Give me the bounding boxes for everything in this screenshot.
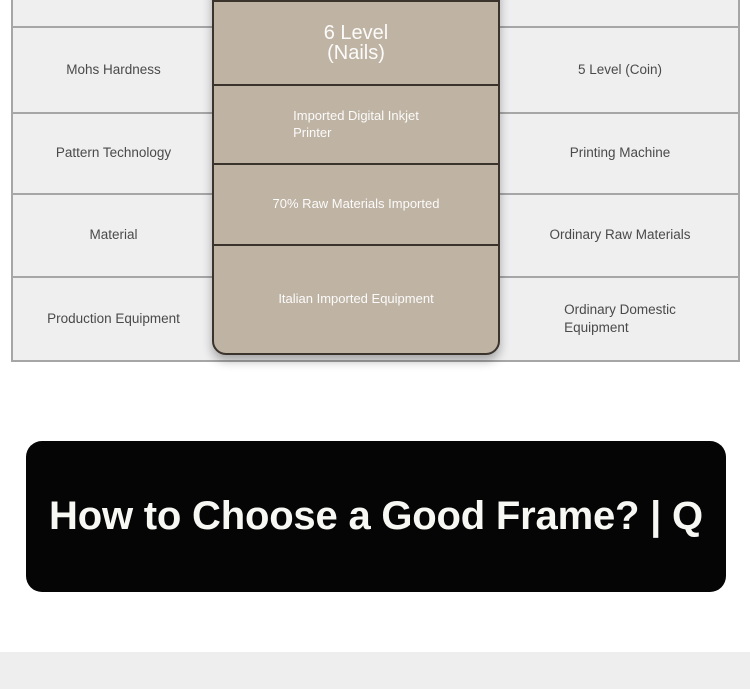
table-cell-other-line2: Equipment [564,320,629,335]
highlight-line1: Italian Imported Equipment [278,291,433,306]
table-cell-other: Ordinary Domestic Equipment [502,278,738,360]
footer-band [0,652,750,689]
highlight-cell-material: 70% Raw Materials Imported [214,165,498,246]
highlight-cell-pattern-technology: Imported Digital Inkjet Printer [214,86,498,165]
table-cell-feature [13,0,214,26]
table-cell-other: 5 Level (Coin) [502,28,738,112]
highlighted-product-column: 6 Level (Nails) Imported Digital Inkjet … [212,0,500,355]
highlight-line2: Printer [293,125,331,140]
highlight-line1: 6 Level [324,22,389,44]
table-cell-other-line1: Ordinary Domestic [564,302,676,317]
table-cell-feature: Material [13,195,214,276]
highlight-line1: 70% Raw Materials Imported [273,196,440,211]
table-cell-feature: Pattern Technology [13,114,214,193]
table-cell-other [502,0,738,26]
table-cell-feature: Mohs Hardness [13,28,214,112]
table-cell-feature: Production Equipment [13,278,214,360]
page-title: How to Choose a Good Frame? | Q [49,494,703,539]
highlight-cell-production-equipment: Italian Imported Equipment [214,246,498,353]
highlight-line1: Imported Digital Inkjet [293,108,419,123]
table-cell-other: Printing Machine [502,114,738,193]
highlight-cell-mohs-hardness: 6 Level (Nails) [214,2,498,86]
page-title-banner: How to Choose a Good Frame? | Q [26,441,726,592]
table-cell-other: Ordinary Raw Materials [502,195,738,276]
highlight-line2: (Nails) [327,42,385,64]
